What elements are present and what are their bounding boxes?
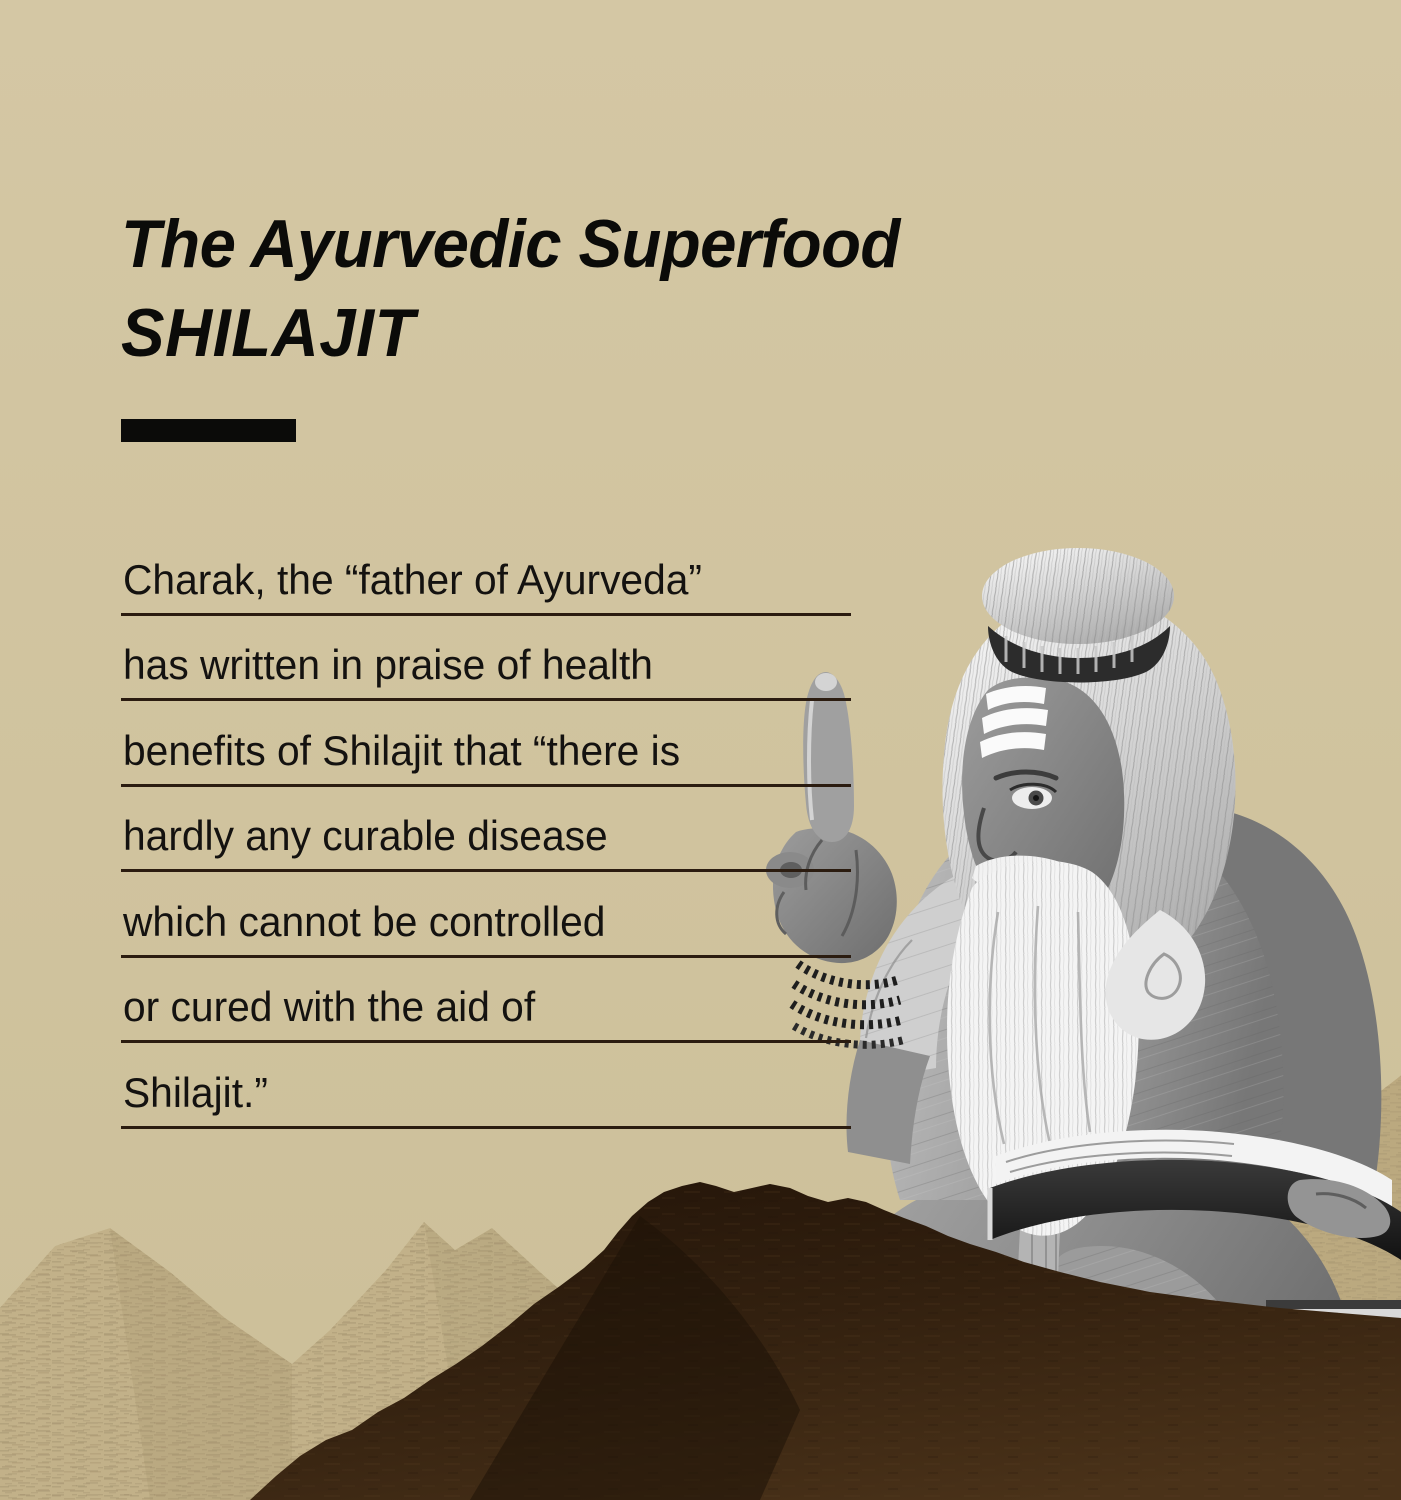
quote-line-text: hardly any curable disease [123,815,608,857]
headline-line-2: SHILAJIT [121,295,415,371]
poster: The Ayurvedic Superfood SHILAJIT Charak,… [0,0,1401,1500]
quote-line: hardly any curable disease [121,787,851,873]
content-layer: The Ayurvedic Superfood SHILAJIT Charak,… [0,0,1401,1500]
headline-line-1: The Ayurvedic Superfood [121,206,900,282]
quote-line: benefits of Shilajit that “there is [121,701,851,787]
quote-line-text: Charak, the “father of Ayurveda” [123,559,702,601]
quote-line-text: which cannot be controlled [123,901,605,943]
quote-line: has written in praise of health [121,616,851,702]
charak-quote: Charak, the “father of Ayurveda” has wri… [121,530,851,1129]
quote-line-text: has written in praise of health [123,644,653,686]
accent-bar [121,419,296,442]
quote-line: Charak, the “father of Ayurveda” [121,530,851,616]
quote-line-text: benefits of Shilajit that “there is [123,730,680,772]
quote-line: which cannot be controlled [121,872,851,958]
quote-line-text: Shilajit.” [123,1072,268,1114]
quote-line-text: or cured with the aid of [123,986,535,1028]
page-title: The Ayurvedic Superfood SHILAJIT [121,200,1196,378]
quote-line: Shilajit.” [121,1043,851,1129]
quote-line: or cured with the aid of [121,958,851,1044]
